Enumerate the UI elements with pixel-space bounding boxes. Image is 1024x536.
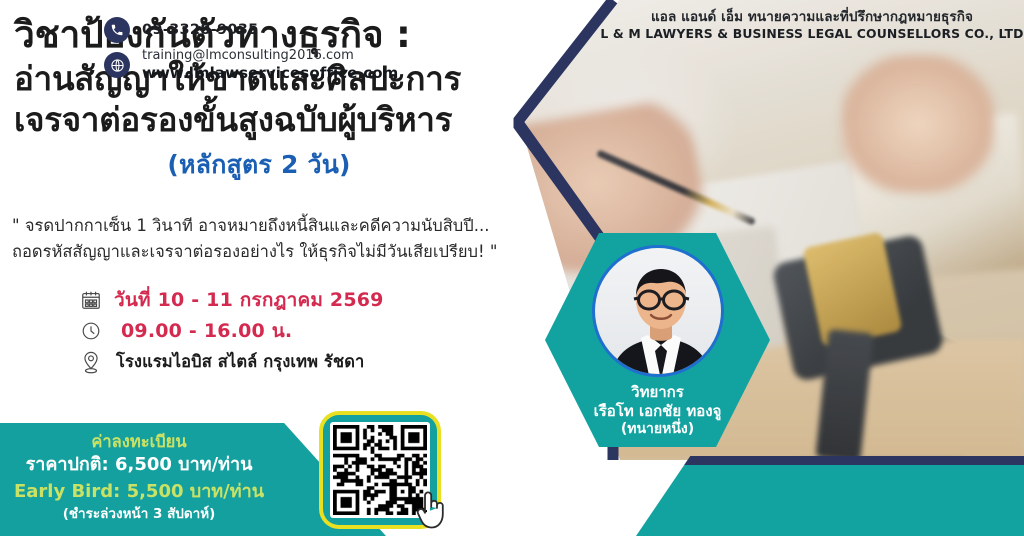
event-venue-text: โรงแรมไอบิส สไตล์ กรุงเทพ รัชดา: [114, 349, 364, 375]
price-note: (ชำระล่วงหน้า 3 สัปดาห์): [0, 505, 284, 524]
event-details-list: วันที่ 10 - 11 กรกฎาคม 2569 09.00 - 16.0…: [80, 284, 384, 377]
price-normal: ราคาปกติ: 6,500 บาท/ท่าน: [0, 452, 284, 478]
company-name-thai: แอล แอนด์ เอ็ม ทนายความและที่ปรึกษากฎหมา…: [600, 9, 1024, 26]
speaker-role: วิทยากร: [545, 383, 770, 402]
event-date-text: วันที่ 10 - 11 กรกฎาคม 2569: [114, 285, 384, 315]
company-header: แอล แอนด์ เอ็ม ทนายความและที่ปรึกษากฎหมา…: [600, 9, 1024, 42]
promo-quote: " จรดปากกาเซ็น 1 วินาที อาจหมายถึงหนี้สิ…: [12, 213, 532, 264]
price-early-bird: Early Bird: 5,500 บาท/ท่าน: [0, 479, 284, 505]
quote-line-1: " จรดปากกาเซ็น 1 วินาที อาจหมายถึงหนี้สิ…: [12, 213, 532, 239]
speaker-card: วิทยากร เรือโท เอกชัย ทองจู (ทนายหนึ่ง): [545, 233, 770, 447]
speaker-name: เรือโท เอกชัย ทองจู: [545, 402, 770, 421]
speaker-nickname: (ทนายหนึ่ง): [545, 421, 770, 439]
speaker-avatar: [592, 245, 724, 377]
speaker-caption: วิทยากร เรือโท เอกชัย ทองจู (ทนายหนึ่ง): [545, 383, 770, 439]
avatar-illustration: [595, 248, 724, 377]
company-name-english: L & M LAWYERS & BUSINESS LEGAL COUNSELLO…: [600, 26, 1024, 42]
page-title: วิชาป้องกันตัวทางธุรกิจ : อ่านสัญญาให้ขา…: [14, 14, 534, 185]
location-pin-icon: [80, 350, 114, 374]
contact-web-row[interactable]: training@lmconsulting2016.com www.lmlaws…: [104, 48, 398, 82]
event-detail-time: 09.00 - 16.00 น.: [80, 315, 384, 346]
contact-phone-number: 09-3328-9035: [142, 22, 259, 38]
price-content: ค่าลงทะเบียน ราคาปกติ: 6,500 บาท/ท่าน Ea…: [0, 423, 284, 524]
event-detail-date: วันที่ 10 - 11 กรกฎาคม 2569: [80, 284, 384, 315]
phone-icon: [104, 17, 130, 43]
title-line-3: เจรจาต่อรองขั้นสูงฉบับผู้บริหาร: [14, 100, 534, 140]
contact-web-text: training@lmconsulting2016.com www.lmlaws…: [142, 48, 398, 82]
title-subtitle-duration: (หลักสูตร 2 วัน): [14, 145, 504, 185]
contact-phone-row[interactable]: 09-3328-9035: [104, 17, 259, 43]
globe-icon: [104, 52, 130, 78]
contact-website: www.lmlawservicesoffice.com: [142, 64, 398, 82]
price-heading: ค่าลงทะเบียน: [0, 431, 284, 452]
clock-icon: [80, 320, 114, 342]
pointing-hand-cursor-icon: [412, 487, 450, 531]
event-time-text: 09.00 - 16.00 น.: [114, 316, 292, 346]
poster-canvas: แอล แอนด์ เอ็ม ทนายความและที่ปรึกษากฎหมา…: [0, 0, 1024, 536]
footer-contact-band: [636, 456, 1024, 536]
calendar-icon: [80, 289, 114, 311]
contact-email: training@lmconsulting2016.com: [142, 48, 398, 64]
quote-line-2: ถอดรหัสสัญญาและเจรจาต่อรองอย่างไร ให้ธุร…: [12, 239, 532, 265]
event-detail-venue: โรงแรมไอบิส สไตล์ กรุงเทพ รัชดา: [80, 346, 384, 377]
